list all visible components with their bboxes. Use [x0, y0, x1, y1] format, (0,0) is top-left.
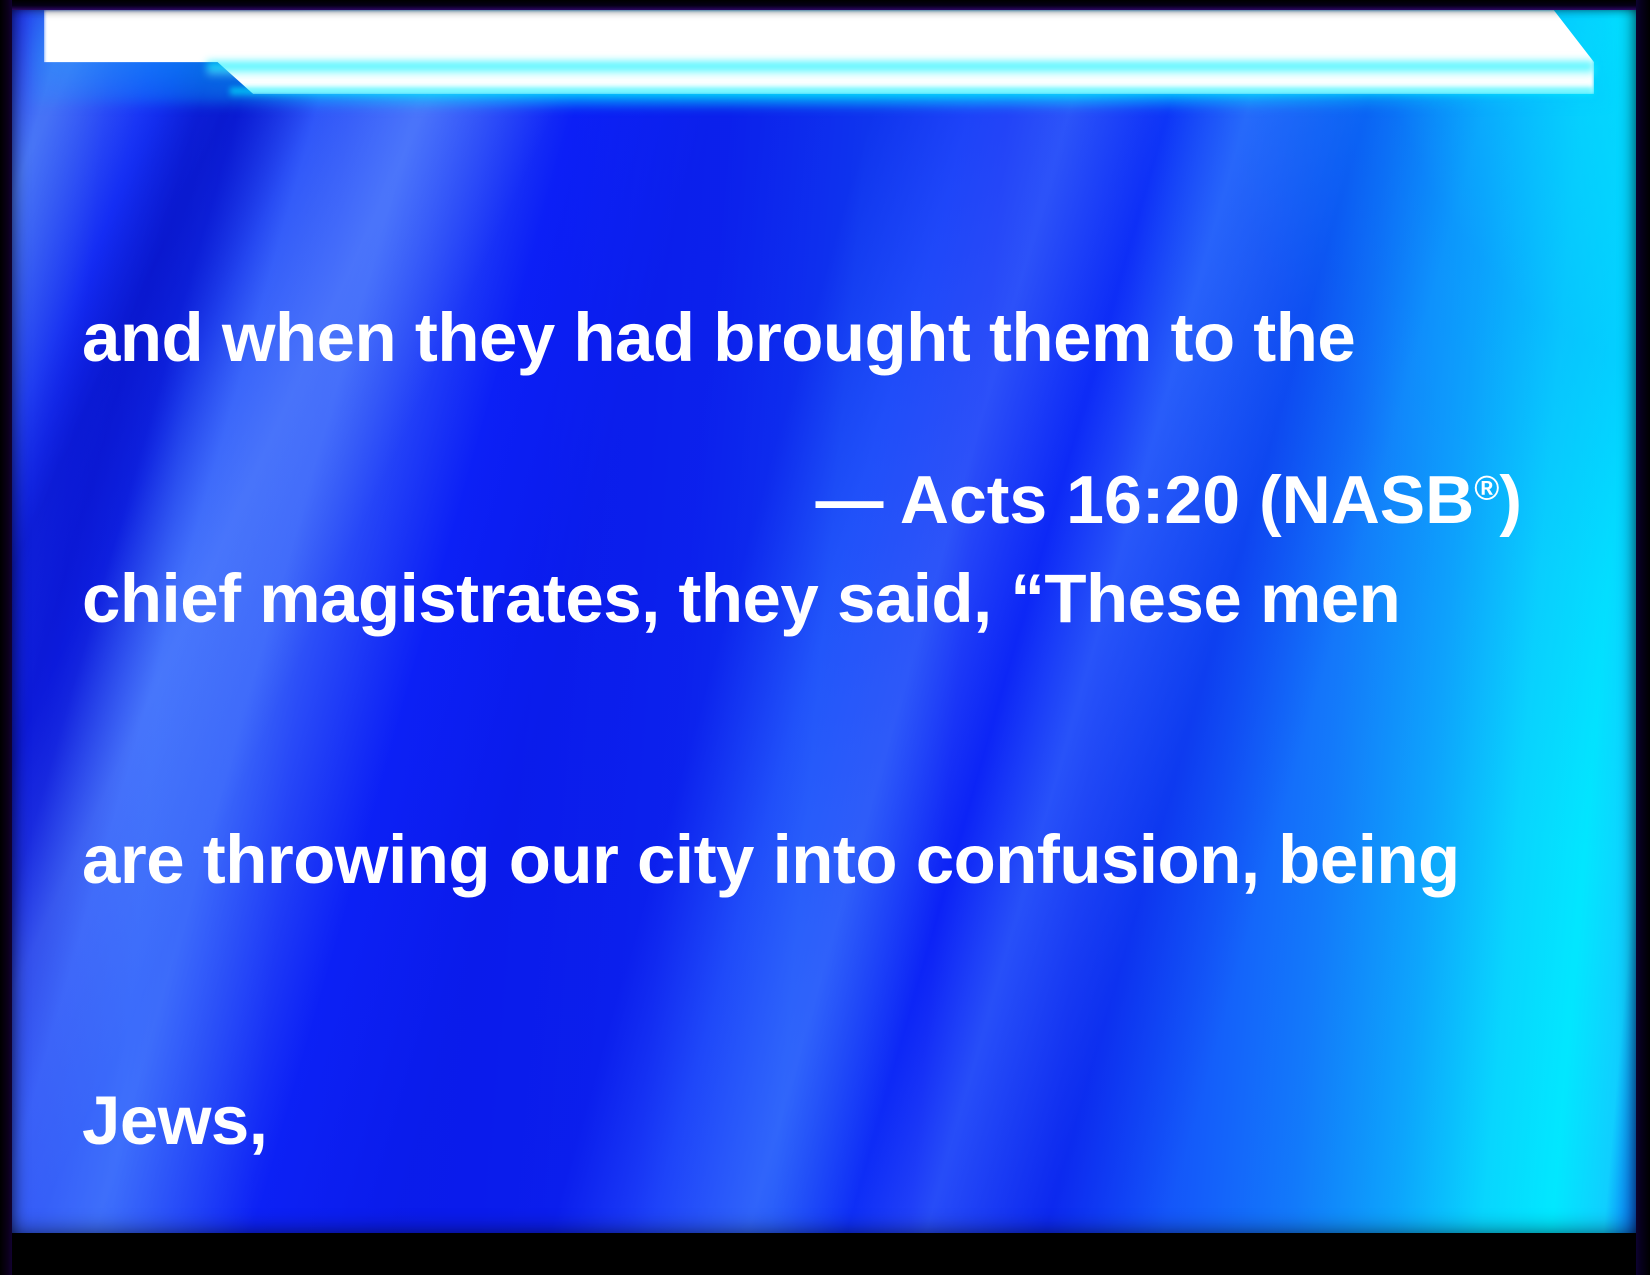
registered-trademark-icon: ® [1474, 469, 1499, 507]
top-bar-banner [44, 10, 1594, 94]
border-right [1636, 0, 1650, 1275]
border-bottom [0, 1233, 1650, 1275]
border-top [0, 0, 1650, 10]
verse-text: and when they had brought them to the ch… [82, 120, 1562, 1275]
verse-citation: — Acts 16:20 (NASB®) [82, 458, 1522, 542]
top-bar-cyan-accent [207, 59, 1594, 77]
top-bar-underglow [230, 88, 1594, 98]
bible-verse-slide: and when they had brought them to the ch… [0, 0, 1650, 1275]
verse-line-2: chief magistrates, they said, “These men [82, 555, 1562, 642]
top-bar-white-shape [44, 10, 1594, 94]
verse-line-3: are throwing our city into confusion, be… [82, 816, 1562, 903]
citation-suffix: ) [1499, 462, 1522, 538]
border-left [0, 0, 12, 1275]
verse-line-1: and when they had brought them to the [82, 294, 1562, 381]
citation-prefix: — Acts 16:20 (NASB [815, 462, 1474, 538]
verse-line-4: Jews, [82, 1077, 1562, 1164]
